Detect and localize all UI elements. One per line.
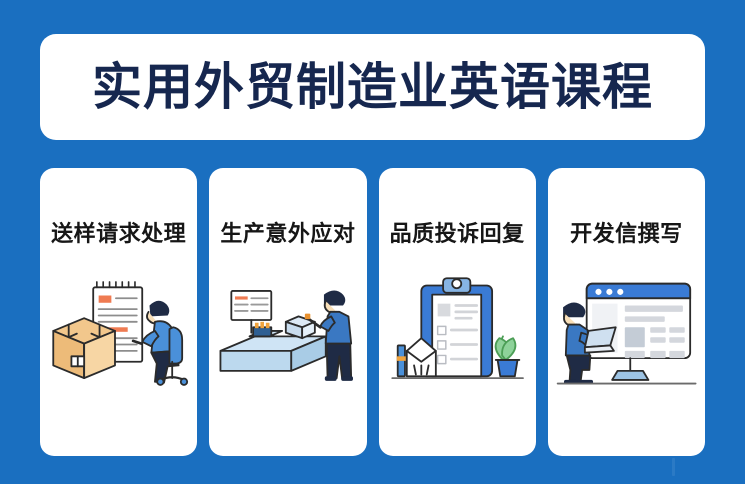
card-illustration-2 xyxy=(215,260,360,400)
person-at-desk-with-box-and-notepad-icon xyxy=(46,260,191,400)
feature-card-production-incident[interactable]: 生产意外应对 xyxy=(209,168,366,456)
header-card: 实用外贸制造业英语课程 xyxy=(40,34,705,140)
poster-canvas: 实用外贸制造业英语课程 送样请求处理 xyxy=(0,0,745,484)
feature-card-title: 开发信撰写 xyxy=(548,216,705,248)
card-illustration-1 xyxy=(46,260,191,400)
feature-card-title: 生产意外应对 xyxy=(209,216,366,248)
card-illustration-4 xyxy=(554,260,699,400)
person-presenting-at-production-line-icon xyxy=(215,260,360,400)
feature-card-title: 送样请求处理 xyxy=(40,216,197,248)
card-illustration-3 xyxy=(385,260,530,400)
clipboard-checklist-with-plant-icon xyxy=(385,260,530,400)
feature-card-sample-request[interactable]: 送样请求处理 xyxy=(40,168,197,456)
feature-cards-row: 送样请求处理 xyxy=(40,168,705,456)
person-with-laptop-at-monitor-icon xyxy=(554,260,699,400)
feature-card-title: 品质投诉回复 xyxy=(379,216,536,248)
page-title: 实用外贸制造业英语课程 xyxy=(92,62,653,112)
feature-card-outreach-email[interactable]: 开发信撰写 xyxy=(548,168,705,456)
bottom-right-artifact xyxy=(672,458,675,476)
feature-card-quality-complaint[interactable]: 品质投诉回复 xyxy=(379,168,536,456)
